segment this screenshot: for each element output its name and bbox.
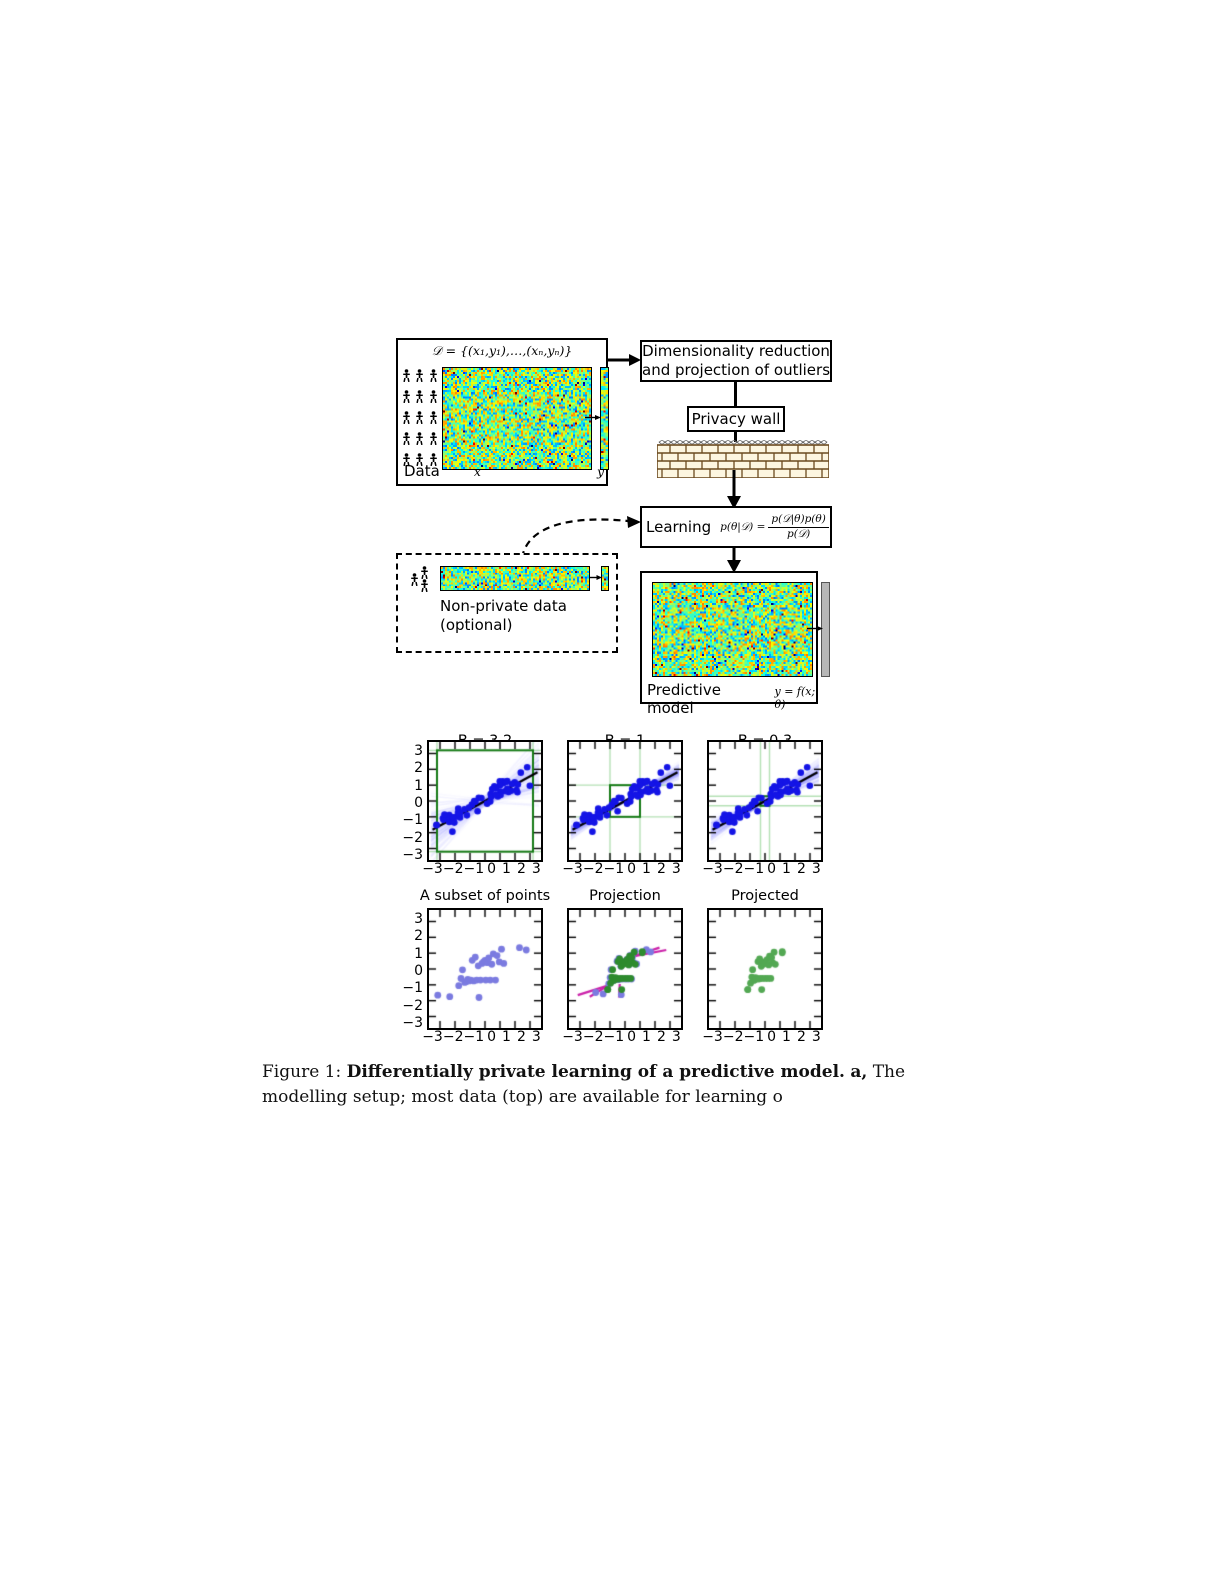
x-tick: 1 <box>642 861 651 877</box>
dimreduction-to-wall-line <box>734 382 737 406</box>
plot-title-projection: Projection <box>565 888 685 904</box>
person-icon <box>429 432 438 445</box>
model-output-arrow <box>807 625 823 632</box>
x-tick: 2 <box>657 1029 666 1045</box>
person-icon <box>429 390 438 403</box>
predictive-model-equation: y = f(x; θ) <box>775 685 828 711</box>
x-axis-ticks-row1: −3 −2 −1 0 1 2 3 <box>427 861 539 877</box>
x-tick: −3 <box>562 1029 583 1045</box>
y-tick: −1 <box>395 980 423 996</box>
x-tick: 2 <box>517 1029 526 1045</box>
x-tick: 0 <box>487 1029 496 1045</box>
y-tick: −3 <box>395 847 423 863</box>
x-tick: −2 <box>723 1029 744 1045</box>
non-private-people-icon-group <box>410 566 438 592</box>
person-icon <box>402 432 411 445</box>
privacy-wall-label: Privacy wall <box>687 406 785 432</box>
predictive-model-label: Predictive model <box>647 681 767 717</box>
flow-diagram-panel: 𝒟 = {(x₁,y₁),…,(xₙ,yₙ)} Data x y <box>0 0 1225 730</box>
learning-label: Learning <box>646 518 711 536</box>
people-icon-group <box>400 365 440 470</box>
dimensionality-reduction-text: Dimensionality reduction and projection … <box>640 340 832 382</box>
caption-bold-title: Differentially private learning of a pre… <box>347 1062 845 1082</box>
x-tick: 0 <box>767 861 776 877</box>
wall-to-learning-arrow <box>724 470 744 510</box>
bayes-fraction: p(𝒟|θ)p(θ) p(𝒟) <box>768 513 828 540</box>
non-private-line2: (optional) <box>440 616 620 635</box>
x-tick: 3 <box>672 861 681 877</box>
x-axis-ticks-row2: −3 −2 −1 0 1 2 3 <box>427 1029 539 1045</box>
x-tick: −1 <box>743 1029 764 1045</box>
data-x-label: x <box>474 464 481 479</box>
x-tick: 2 <box>517 861 526 877</box>
x-tick: −1 <box>603 1029 624 1045</box>
y-axis-ticks-row2: 3 2 1 0 −1 −2 −3 <box>395 911 423 1031</box>
x-tick: −1 <box>743 861 764 877</box>
non-private-target-colorbar <box>601 566 609 591</box>
data-heatmap <box>442 367 592 470</box>
non-private-arrow <box>589 574 602 581</box>
non-private-line1: Non-private data <box>440 597 620 616</box>
x-tick: −1 <box>463 861 484 877</box>
x-tick: 0 <box>627 861 636 877</box>
y-tick: 1 <box>395 778 423 794</box>
person-icon <box>429 369 438 382</box>
person-icon <box>429 411 438 424</box>
person-icon <box>415 369 424 382</box>
predictive-model-caption: Predictive model y = f(x; θ) <box>647 681 827 717</box>
x-tick: 2 <box>797 861 806 877</box>
x-tick: 1 <box>502 1029 511 1045</box>
plot-b03 <box>707 740 823 862</box>
caption-panel-letter: a, <box>850 1062 867 1082</box>
predictive-model-heatmap <box>652 582 813 677</box>
bayes-lhs: p(θ|𝒟) = <box>720 521 765 534</box>
y-tick: 0 <box>395 795 423 811</box>
x-tick: 3 <box>532 1029 541 1045</box>
x-tick: −2 <box>443 1029 464 1045</box>
person-icon <box>402 369 411 382</box>
x-tick: 2 <box>657 861 666 877</box>
person-icon <box>415 390 424 403</box>
learning-content: Learning p(θ|𝒟) = p(𝒟|θ)p(θ) p(𝒟) <box>646 506 832 548</box>
caption-label: Figure 1: <box>262 1062 341 1082</box>
x-tick: −3 <box>422 861 443 877</box>
scatter-plot-grid: B = 3.2 B = 1 B = 0.3 3 2 1 0 −1 −2 −3 −… <box>0 715 1225 1055</box>
bayes-formula: p(θ|𝒟) = p(𝒟|θ)p(θ) p(𝒟) <box>720 513 829 540</box>
y-tick: 2 <box>395 928 423 944</box>
x-tick: −2 <box>723 861 744 877</box>
data-to-dimreduction-arrow <box>608 350 642 370</box>
x-tick: 1 <box>502 861 511 877</box>
y-tick: 2 <box>395 760 423 776</box>
plot-title-projected: Projected <box>705 888 825 904</box>
x-tick: 0 <box>487 861 496 877</box>
plot-subset <box>427 908 543 1030</box>
dimreduction-line2: and projection of outliers <box>642 361 830 380</box>
y-tick: 0 <box>395 963 423 979</box>
y-axis-ticks-row1: 3 2 1 0 −1 −2 −3 <box>395 743 423 863</box>
x-tick: −3 <box>702 1029 723 1045</box>
bayes-numerator: p(𝒟|θ)p(θ) <box>768 513 828 527</box>
data-to-target-arrow <box>585 414 601 421</box>
y-tick: −2 <box>395 998 423 1014</box>
y-tick: −3 <box>395 1015 423 1031</box>
person-icon <box>402 411 411 424</box>
x-tick: 0 <box>627 1029 636 1045</box>
data-y-label: y <box>597 464 604 479</box>
person-icon <box>420 579 429 592</box>
plot-projected <box>707 908 823 1030</box>
y-tick: −1 <box>395 812 423 828</box>
x-axis-ticks-row2: −3 −2 −1 0 1 2 3 <box>567 1029 679 1045</box>
x-tick: −1 <box>603 861 624 877</box>
person-icon <box>420 566 429 579</box>
person-icon <box>415 432 424 445</box>
data-set-formula: 𝒟 = {(x₁,y₁),…,(xₙ,yₙ)} <box>396 342 608 363</box>
y-tick: 1 <box>395 946 423 962</box>
person-icon <box>415 411 424 424</box>
data-label: Data <box>404 462 440 480</box>
x-axis-ticks-row1: −3 −2 −1 0 1 2 3 <box>707 861 819 877</box>
x-tick: −2 <box>443 861 464 877</box>
x-tick: 3 <box>532 861 541 877</box>
person-icon <box>402 390 411 403</box>
x-tick: 1 <box>782 861 791 877</box>
non-private-heatmap <box>440 566 590 591</box>
dimreduction-line1: Dimensionality reduction <box>642 342 830 361</box>
y-tick: 3 <box>395 743 423 759</box>
y-tick: 3 <box>395 911 423 927</box>
x-axis-ticks-row1: −3 −2 −1 0 1 2 3 <box>567 861 679 877</box>
x-tick: −3 <box>702 861 723 877</box>
data-target-colorbar <box>600 367 609 470</box>
plot-b32 <box>427 740 543 862</box>
plot-b1 <box>567 740 683 862</box>
data-box-caption: Data x y <box>404 462 604 480</box>
plot-projection <box>567 908 683 1030</box>
svg-text:𝒟 = {(x₁,y₁),…,(xₙ,yₙ)}: 𝒟 = {(x₁,y₁),…,(xₙ,yₙ)} <box>432 343 573 358</box>
y-tick: −2 <box>395 830 423 846</box>
person-icon <box>410 573 419 586</box>
x-tick: −2 <box>583 1029 604 1045</box>
plot-title-subset: A subset of points <box>405 888 565 904</box>
x-tick: −2 <box>583 861 604 877</box>
x-tick: 1 <box>642 1029 651 1045</box>
x-tick: −1 <box>463 1029 484 1045</box>
x-tick: 3 <box>812 1029 821 1045</box>
x-tick: −3 <box>562 861 583 877</box>
x-tick: −3 <box>422 1029 443 1045</box>
x-tick: 3 <box>812 861 821 877</box>
non-private-caption: Non-private data (optional) <box>440 597 620 635</box>
x-tick: 3 <box>672 1029 681 1045</box>
x-tick: 2 <box>797 1029 806 1045</box>
data-set-formula-svg: 𝒟 = {(x₁,y₁),…,(xₙ,yₙ)} <box>396 342 608 360</box>
x-tick: 0 <box>767 1029 776 1045</box>
x-tick: 1 <box>782 1029 791 1045</box>
bayes-denominator: p(𝒟) <box>784 528 813 541</box>
x-axis-ticks-row2: −3 −2 −1 0 1 2 3 <box>707 1029 819 1045</box>
figure-caption: Figure 1: Differentially private learnin… <box>262 1060 962 1109</box>
